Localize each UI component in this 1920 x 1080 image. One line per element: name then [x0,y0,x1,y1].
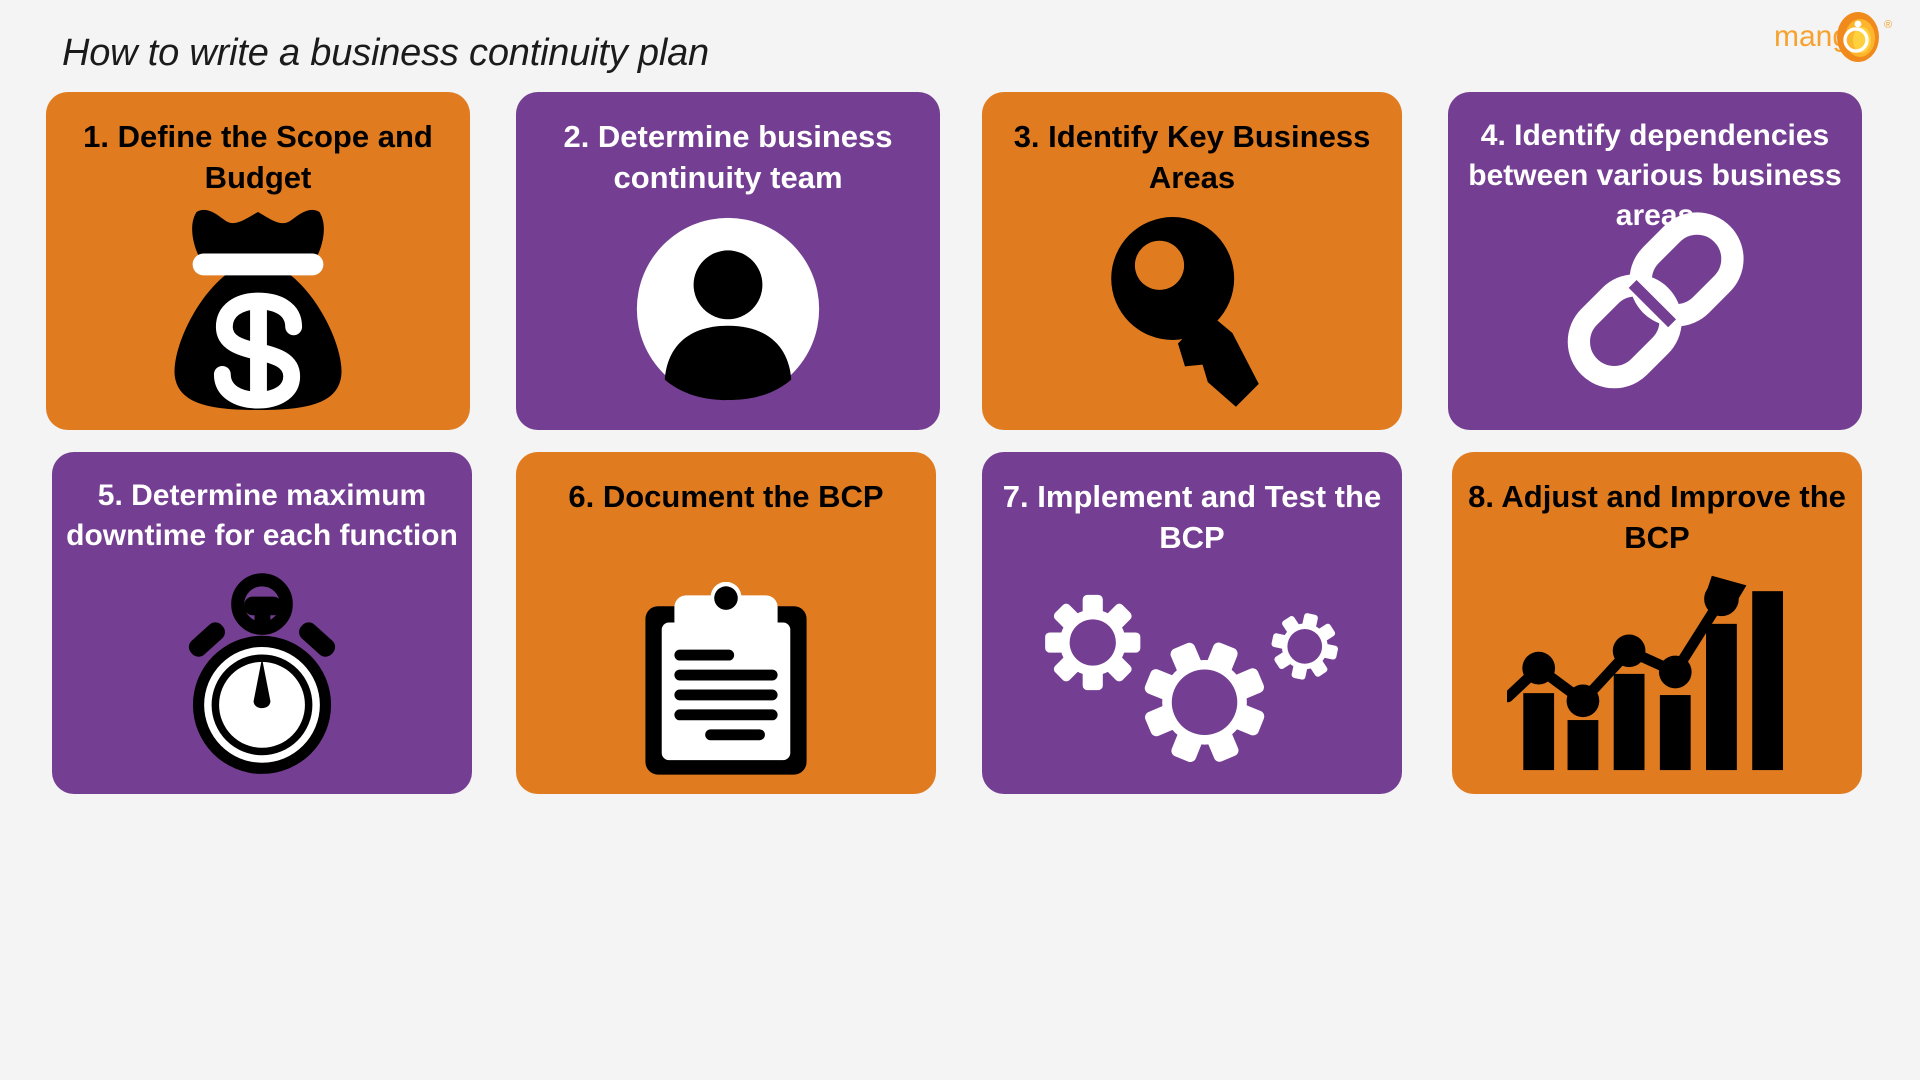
step-card-3-title: 3. Identify Key Business Areas [996,116,1388,198]
key-icon [982,210,1402,412]
step-card-2-title: 2. Determine business continuity team [530,116,926,198]
clipboard-icon [516,582,936,778]
step-card-8[interactable]: 8. Adjust and Improve the BCP [1452,452,1862,794]
growth-chart-icon [1452,570,1862,772]
step-card-8-title: 8. Adjust and Improve the BCP [1466,476,1848,558]
chain-link-icon [1448,208,1862,394]
step-card-4[interactable]: 4. Identify dependencies between various… [1448,92,1862,430]
steps-grid: 1. Define the Scope and Budget 2. Determ… [0,92,1920,972]
step-card-6[interactable]: 6. Document the BCP [516,452,936,794]
page-header: How to write a business continuity plan … [0,0,1920,92]
step-card-5-title: 5. Determine maximum downtime for each f… [66,476,458,556]
step-card-2[interactable]: 2. Determine business continuity team [516,92,940,430]
money-bag-icon [46,206,470,414]
person-icon [516,216,940,402]
step-card-1-title: 1. Define the Scope and Budget [60,116,456,198]
gears-icon [982,586,1402,780]
step-card-1[interactable]: 1. Define the Scope and Budget [46,92,470,430]
mango-logo: mango ® [1772,8,1902,64]
svg-text:®: ® [1884,19,1892,31]
stopwatch-icon [52,572,472,778]
step-card-3[interactable]: 3. Identify Key Business Areas [982,92,1402,430]
page-title: How to write a business continuity plan [62,32,709,75]
step-card-7[interactable]: 7. Implement and Test the BCP [982,452,1402,794]
step-card-5[interactable]: 5. Determine maximum downtime for each f… [52,452,472,794]
step-card-7-title: 7. Implement and Test the BCP [996,476,1388,558]
step-card-6-title: 6. Document the BCP [530,476,922,517]
